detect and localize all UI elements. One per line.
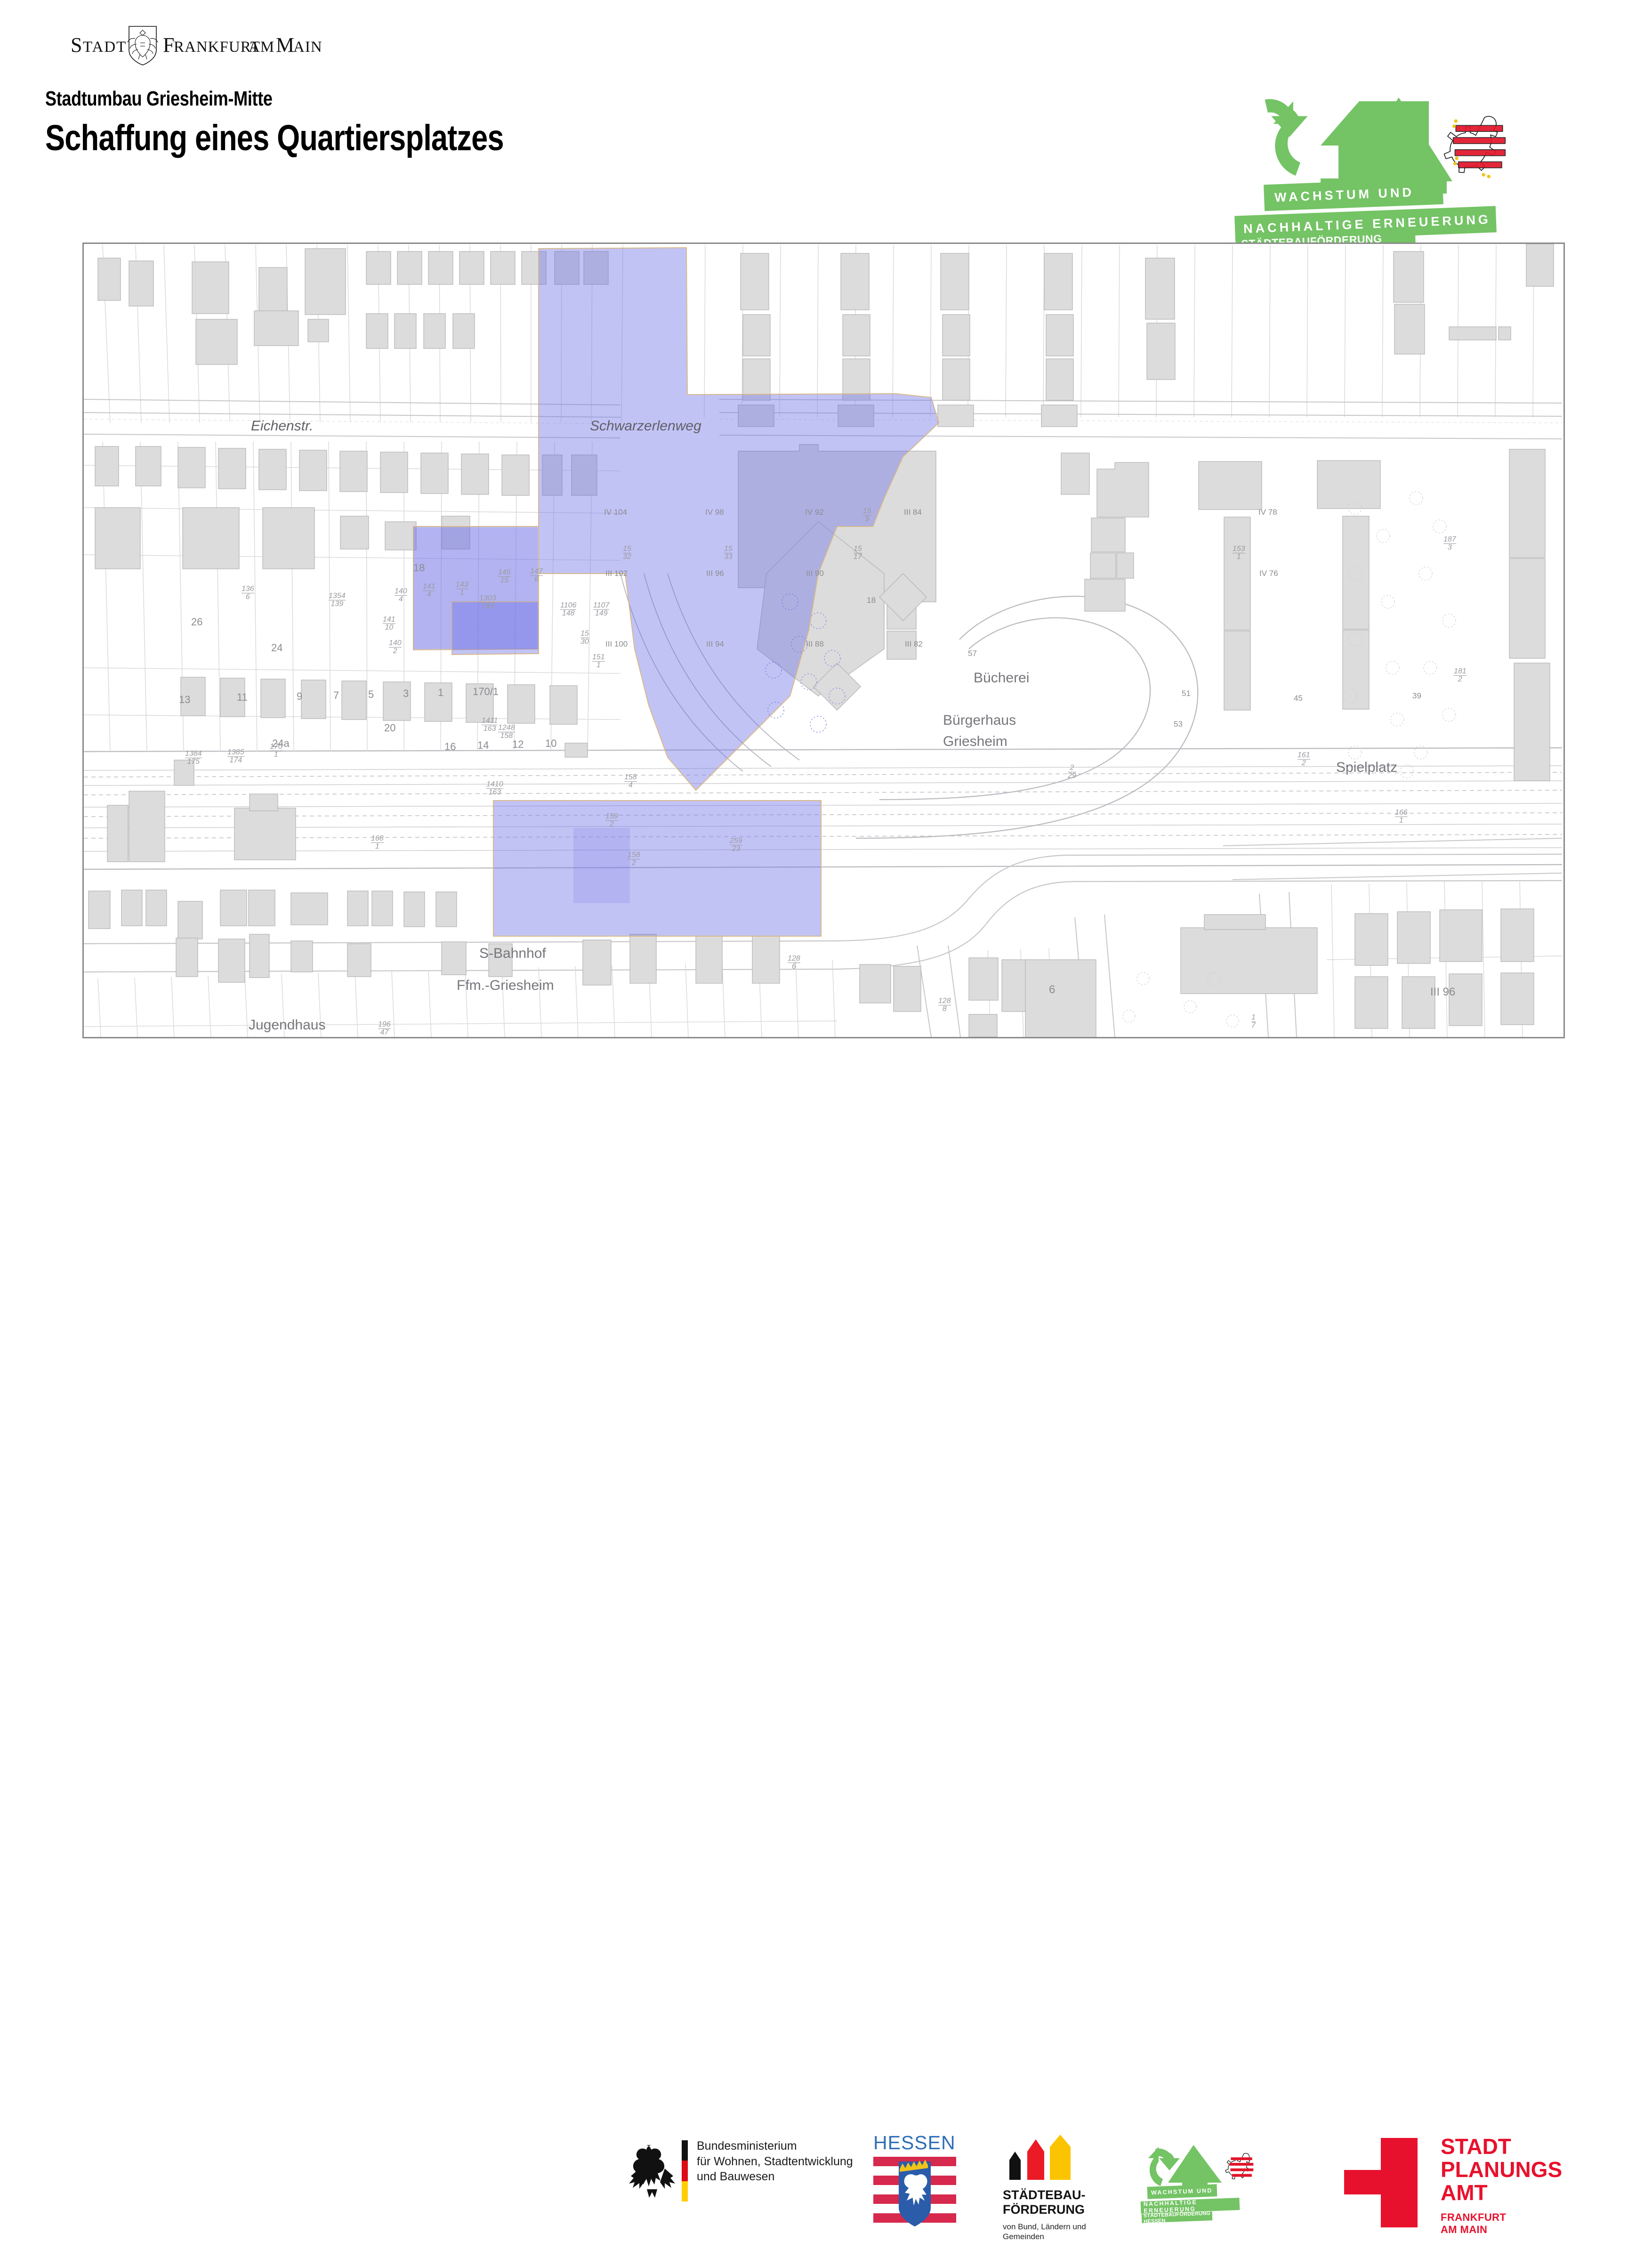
sp-sub: FRANKFURT AM MAIN: [1441, 2211, 1506, 2236]
bmwsb-line3: und Bauwesen: [697, 2169, 853, 2185]
svg-text:M: M: [276, 33, 294, 57]
svg-text:F: F: [163, 33, 174, 57]
staedtebau-line2: FÖRDERUNG: [1003, 2202, 1086, 2217]
sp-line2: PLANUNGS: [1441, 2158, 1562, 2181]
bundesadler-icon: [626, 2140, 678, 2202]
hessen-wordmark: HESSEN: [873, 2132, 967, 2154]
logo-hessen: HESSEN: [873, 2132, 967, 2234]
logo-stadtplanungsamt: STADT PLANUNGS AMT FRANKFURT AM MAIN: [1344, 2138, 1431, 2230]
svg-text:S: S: [71, 33, 82, 57]
logo-bundesministerium: Bundesministerium für Wohnen, Stadtentwi…: [626, 2140, 678, 2204]
staedtebau-sub2: Gemeinden: [1003, 2232, 1086, 2242]
footer-logo-strip: Bundesministerium für Wohnen, Stadtentwi…: [0, 1062, 1652, 1161]
sp-line3: AMT: [1441, 2181, 1562, 2204]
staedtebau-sub1: von Bund, Ländern und: [1003, 2222, 1086, 2232]
highlight-area-south: [493, 801, 821, 936]
page-title: Schaffung eines Quartiersplatzes: [45, 117, 504, 159]
logo-wachstum-klein: WACHSTUM UND NACHHALTIGE ERNEUERUNG STÄD…: [1142, 2140, 1283, 2218]
staedtebau-line1: STÄDTEBAU-: [1003, 2188, 1086, 2202]
map-vector-layer: [84, 244, 1563, 1037]
bmwsb-text: Bundesministerium für Wohnen, Stadtentwi…: [697, 2138, 853, 2185]
page-subtitle: Stadtumbau Griesheim-Mitte: [45, 87, 504, 111]
recycle-arrow-icon: [1265, 99, 1308, 176]
svg-text:TADT: TADT: [83, 39, 127, 56]
cadastral-map[interactable]: Eichenstr. Schwarzerlenweg Erzbergerstr.…: [82, 243, 1565, 1038]
logo-staedtebaufoerderung: STÄDTEBAU- FÖRDERUNG von Bund, Ländern u…: [1003, 2135, 1086, 2242]
svg-text:AM: AM: [249, 39, 274, 56]
stadtplanungsamt-mark: [1344, 2138, 1431, 2227]
bmwsb-line1: Bundesministerium: [697, 2138, 853, 2154]
city-logo: S TADT F RANKFURT AM M AIN: [71, 23, 372, 65]
svg-text:RANKFURT: RANKFURT: [174, 39, 260, 56]
title-block: Stadtumbau Griesheim-Mitte Schaffung ein…: [45, 87, 604, 159]
svg-text:AIN: AIN: [293, 39, 322, 56]
sp-line1: STADT: [1441, 2135, 1562, 2158]
hessen-lion-crest: [1444, 116, 1506, 178]
bmwsb-line2: für Wohnen, Stadtentwicklung: [697, 2154, 853, 2169]
german-flag-bar: [682, 2140, 688, 2202]
staedtebau-houses-icon: [1003, 2135, 1078, 2182]
hessen-coat-of-arms: [873, 2157, 956, 2231]
